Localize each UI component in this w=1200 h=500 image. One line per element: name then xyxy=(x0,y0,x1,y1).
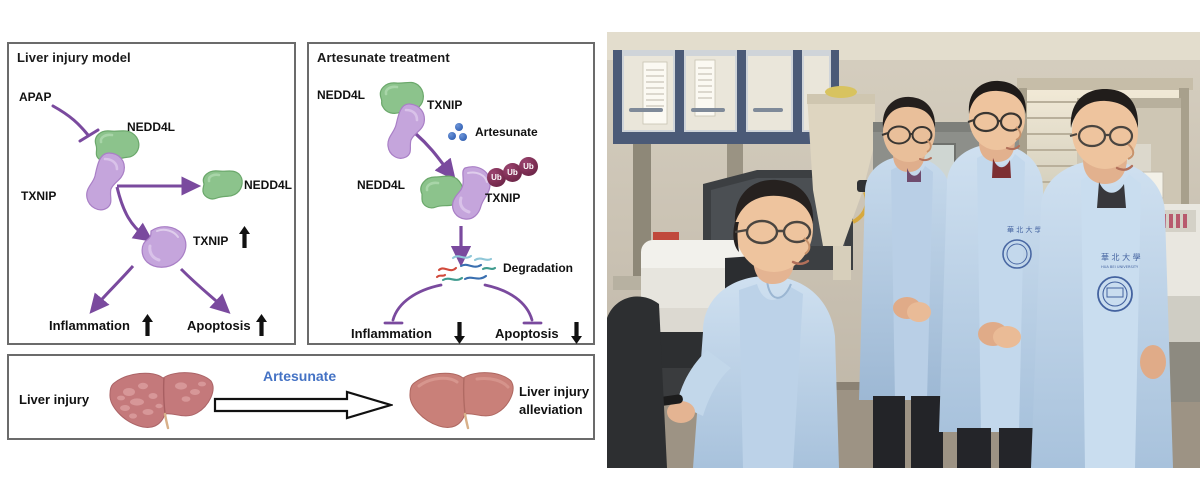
indicator-up-apoptosis xyxy=(256,314,266,336)
artesunate-dot-2 xyxy=(448,132,456,140)
block-arrow-icon xyxy=(213,390,393,425)
label-liver-injury: Liver injury xyxy=(19,392,89,407)
graphical-abstract-figure: Liver injury model xyxy=(0,0,1200,500)
svg-text:華 北 大 學: 華 北 大 學 xyxy=(1101,252,1141,262)
panel-title-artesunate-treatment: Artesunate treatment xyxy=(317,50,450,65)
label-artesunate-arrow: Artesunate xyxy=(263,368,336,384)
protein-txnip-complex xyxy=(81,150,129,212)
indicator-down-apoptosis xyxy=(571,322,581,344)
panel-summary: Liver injury xyxy=(7,354,595,440)
label-inflammation-up: Inflammation xyxy=(49,318,130,333)
label-txnip-bottom: TXNIP xyxy=(485,191,520,205)
label-liver-injury-alleviation-line2: alleviation xyxy=(519,402,583,417)
protein-txnip-free xyxy=(137,222,193,276)
protein-txnip-top xyxy=(383,102,429,160)
label-txnip-complex: TXNIP xyxy=(21,189,56,203)
label-liver-injury-alleviation-line1: Liver injury xyxy=(519,384,589,399)
indicator-up-inflammation xyxy=(142,314,152,336)
label-apoptosis-down: Apoptosis xyxy=(495,326,559,341)
label-nedd4l-free: NEDD4L xyxy=(244,178,292,192)
panel-title-liver-injury-model: Liver injury model xyxy=(17,50,131,65)
label-nedd4l-top: NEDD4L xyxy=(317,88,365,102)
svg-text:HUA BEI UNIVERSITY: HUA BEI UNIVERSITY xyxy=(1101,265,1139,269)
artesunate-dot-1 xyxy=(455,123,463,131)
indicator-up-txnip xyxy=(239,226,249,248)
protein-nedd4l-free xyxy=(197,168,245,206)
indicator-down-inflammation xyxy=(454,322,464,344)
panel-artesunate-treatment: Artesunate treatment N xyxy=(307,42,595,345)
lab-group-photo: 華 北 大 學 xyxy=(607,32,1200,468)
label-txnip-free: TXNIP xyxy=(193,234,228,248)
degradation-fragments xyxy=(431,250,497,290)
label-degradation: Degradation xyxy=(503,261,573,275)
label-inflammation-down: Inflammation xyxy=(351,326,432,341)
liver-healthy-illustration xyxy=(407,368,517,434)
artesunate-dot-3 xyxy=(459,133,467,141)
label-apap: APAP xyxy=(19,90,51,104)
liver-injured-illustration xyxy=(107,368,217,434)
svg-text:華 北 大 學: 華 北 大 學 xyxy=(1007,225,1042,234)
label-artesunate: Artesunate xyxy=(475,125,538,139)
lab-photo-illustration: 華 北 大 學 xyxy=(607,32,1200,468)
label-apoptosis-up: Apoptosis xyxy=(187,318,251,333)
label-nedd4l-bottom: NEDD4L xyxy=(357,178,405,192)
ubiquitin-bead-3: Ub xyxy=(519,157,538,176)
label-nedd4l-complex: NEDD4L xyxy=(127,120,175,134)
label-txnip-top: TXNIP xyxy=(427,98,462,112)
panel-liver-injury-model: Liver injury model xyxy=(7,42,296,345)
